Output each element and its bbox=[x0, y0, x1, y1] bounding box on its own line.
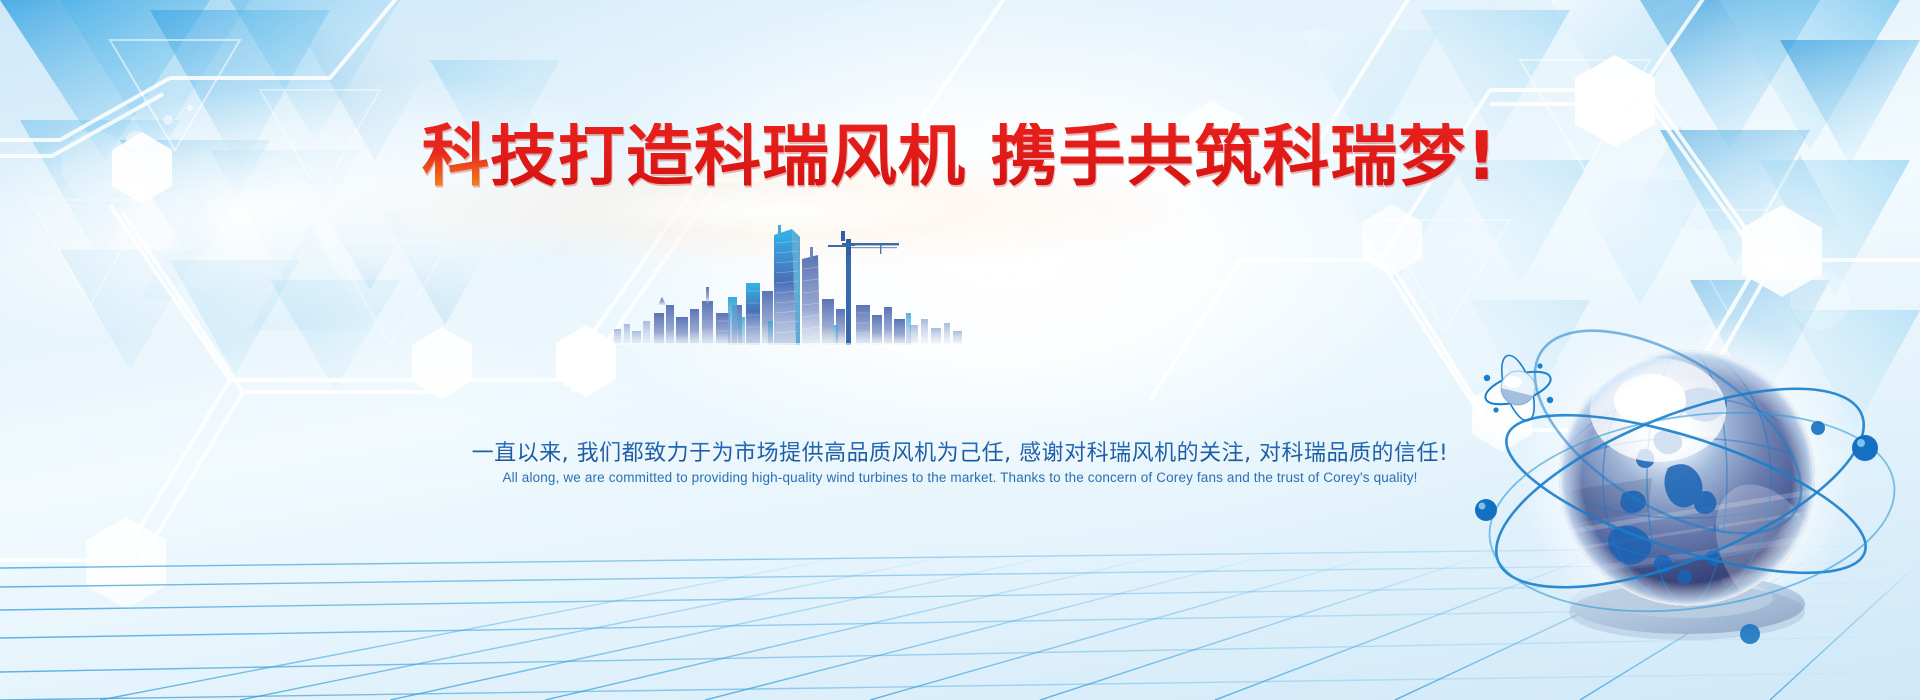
page-title: 科技打造科瑞风机 携手共筑科瑞梦! bbox=[0, 123, 1920, 190]
chrome-globe-illustration bbox=[1472, 282, 1902, 662]
promo-banner: 科技打造科瑞风机 携手共筑科瑞梦! bbox=[0, 0, 1920, 700]
headline-rest: 技打造科瑞风机 携手共筑科瑞梦! bbox=[490, 117, 1498, 195]
headline-accent-char: 科 bbox=[422, 117, 490, 195]
city-skyline-illustration bbox=[610, 225, 970, 345]
